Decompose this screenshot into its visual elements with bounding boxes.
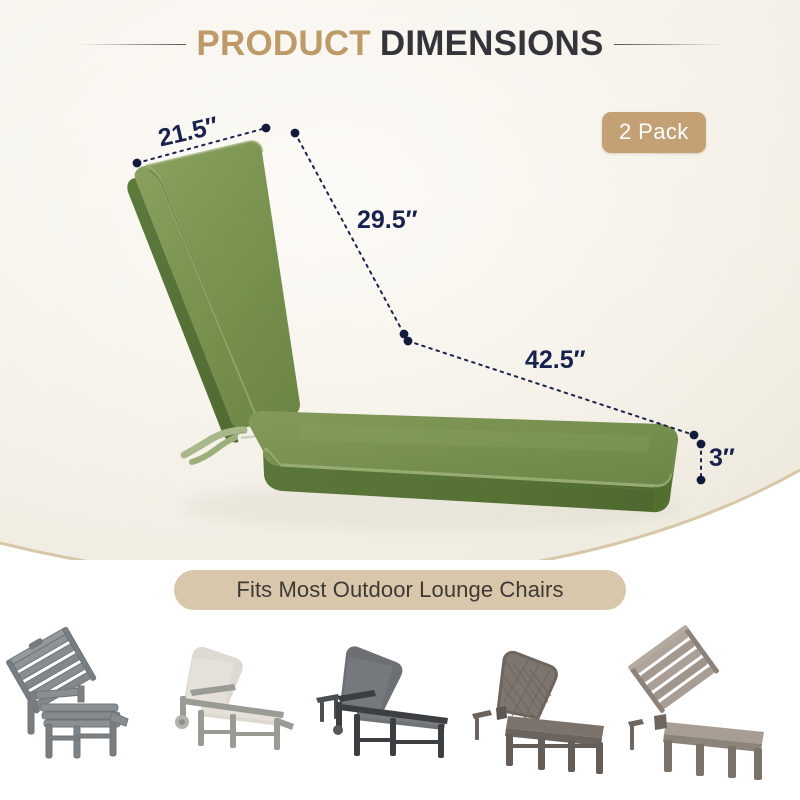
dim-endpoint: [690, 431, 699, 440]
chair-thumbnail-1: [0, 618, 160, 800]
slatted-lounge-chair-warm-gray-icon: [628, 618, 788, 800]
page-header: PRODUCTDIMENSIONS: [0, 18, 800, 70]
dim-endpoint: [697, 476, 706, 485]
dim-endpoint: [291, 129, 300, 138]
dim-endpoint: [404, 337, 413, 346]
mesh-back-lounge-chair-taupe-icon: [472, 618, 632, 800]
chair-thumbnail-2: [158, 618, 318, 800]
chair-thumbnail-3: [316, 618, 476, 800]
compatible-chairs-row: [0, 618, 800, 800]
fits-banner-text: Fits Most Outdoor Lounge Chairs: [236, 577, 563, 603]
dim-endpoint: [262, 124, 271, 133]
page-title-secondary: DIMENSIONS: [380, 24, 604, 63]
chair-thumbnail-4: [472, 618, 632, 800]
header-rule-left: [76, 44, 186, 45]
chair-thumbnail-5: [628, 618, 788, 800]
sling-lounge-chair-dark-gray-icon: [316, 618, 476, 800]
dim-endpoint: [697, 440, 706, 449]
dimension-label-back-length: 29.5″: [357, 206, 418, 235]
dimension-label-thickness: 3″: [709, 444, 735, 473]
product-dimensions-infographic: PRODUCTDIMENSIONS 2 Pack: [0, 0, 800, 800]
header-rule-right: [614, 44, 724, 45]
page-title-primary: PRODUCT: [196, 24, 370, 63]
page-title: PRODUCTDIMENSIONS: [196, 24, 603, 64]
sling-lounge-chair-cream-icon: [158, 618, 318, 800]
slatted-lounge-chair-gray-icon: [0, 618, 160, 800]
dim-endpoint: [133, 159, 142, 168]
fits-banner: Fits Most Outdoor Lounge Chairs: [174, 570, 626, 610]
pack-quantity-badge: 2 Pack: [602, 112, 706, 153]
dimension-label-seat-length: 42.5″: [525, 346, 586, 375]
